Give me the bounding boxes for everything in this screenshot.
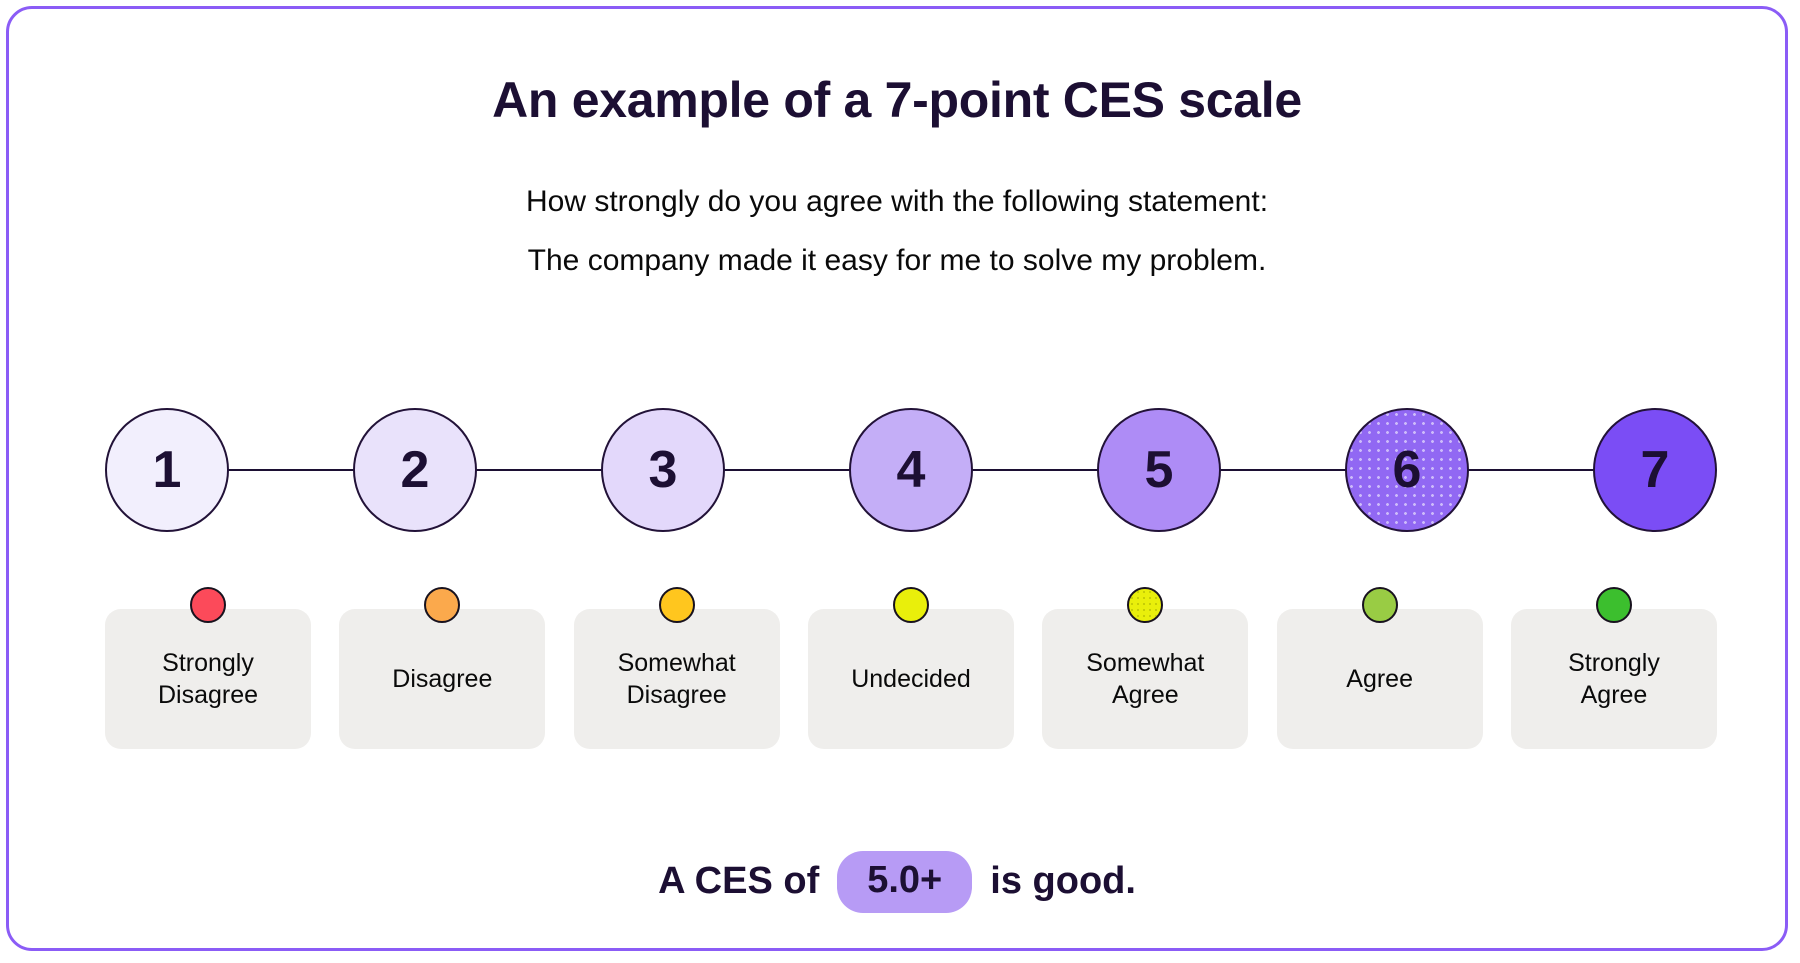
- ces-scale-card: An example of a 7-point CES scale How st…: [6, 6, 1788, 951]
- scale-point-1[interactable]: 1: [105, 408, 229, 532]
- scale-point-6[interactable]: 6: [1345, 408, 1469, 532]
- sentiment-dot-icon-3: [659, 587, 695, 623]
- scale-point-5-number: 5: [1145, 440, 1174, 500]
- scale-point-3[interactable]: 3: [601, 408, 725, 532]
- survey-question: How strongly do you agree with the follo…: [9, 187, 1785, 305]
- label-box-7: Strongly Agree: [1511, 609, 1717, 749]
- scale-point-2-number: 2: [401, 440, 430, 500]
- label-cell-3: Somewhat Disagree: [574, 587, 780, 737]
- sentiment-dot-icon-5: [1127, 587, 1163, 623]
- sentiment-dot-icon-7: [1596, 587, 1632, 623]
- label-box-4: Undecided: [808, 609, 1014, 749]
- scale-point-1-number: 1: [153, 440, 182, 500]
- question-line-1: How strongly do you agree with the follo…: [9, 187, 1785, 217]
- scale-labels: Strongly Disagree Disagree Somewhat Disa…: [105, 587, 1717, 737]
- sentiment-dot-icon-1: [190, 587, 226, 623]
- label-box-2: Disagree: [339, 609, 545, 749]
- scale-point-7[interactable]: 7: [1593, 408, 1717, 532]
- label-box-5: Somewhat Agree: [1042, 609, 1248, 749]
- scale-point-6-number: 6: [1393, 440, 1422, 500]
- label-box-3: Somewhat Disagree: [574, 609, 780, 749]
- footer-benchmark: A CES of 5.0+ is good.: [9, 851, 1785, 913]
- label-cell-2: Disagree: [339, 587, 545, 737]
- label-box-6: Agree: [1277, 609, 1483, 749]
- question-line-2: The company made it easy for me to solve…: [9, 246, 1785, 276]
- label-cell-5: Somewhat Agree: [1042, 587, 1248, 737]
- sentiment-dot-icon-4: [893, 587, 929, 623]
- label-cell-1: Strongly Disagree: [105, 587, 311, 737]
- footer-text-before: A CES of: [658, 860, 819, 903]
- scale-point-3-number: 3: [649, 440, 678, 500]
- ces-threshold-badge: 5.0+: [837, 851, 972, 913]
- scale-point-4-number: 4: [897, 440, 926, 500]
- scale-circles: 1 2 3 4 5 6 7: [105, 407, 1717, 533]
- scale-point-5[interactable]: 5: [1097, 408, 1221, 532]
- sentiment-dot-icon-6: [1362, 587, 1398, 623]
- label-cell-6: Agree: [1277, 587, 1483, 737]
- page-title: An example of a 7-point CES scale: [9, 71, 1785, 129]
- scale-point-2[interactable]: 2: [353, 408, 477, 532]
- label-cell-7: Strongly Agree: [1511, 587, 1717, 737]
- label-cell-4: Undecided: [808, 587, 1014, 737]
- rating-scale: 1 2 3 4 5 6 7: [105, 407, 1717, 533]
- label-box-1: Strongly Disagree: [105, 609, 311, 749]
- sentiment-dot-icon-2: [424, 587, 460, 623]
- scale-point-7-number: 7: [1641, 440, 1670, 500]
- scale-point-4[interactable]: 4: [849, 408, 973, 532]
- footer-text-after: is good.: [990, 860, 1136, 903]
